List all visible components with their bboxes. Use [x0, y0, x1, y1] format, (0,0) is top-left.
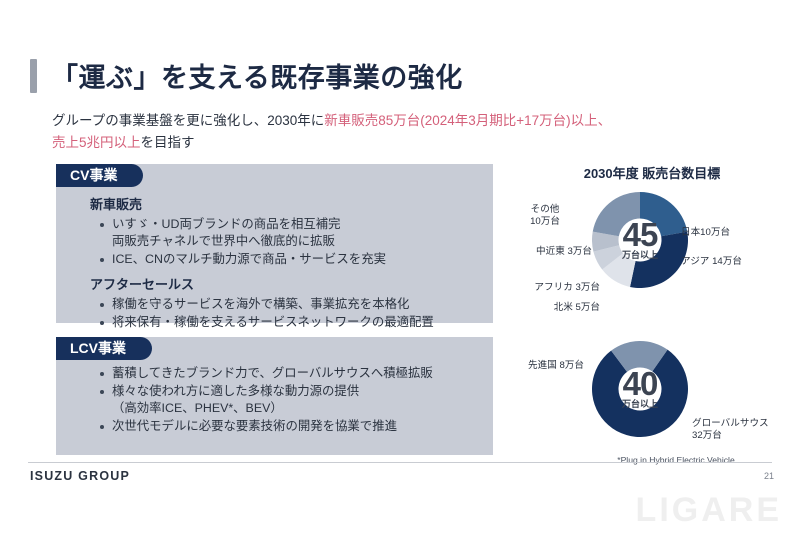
subtitle: グループの事業基盤を更に強化し、2030年に新車販売85万台(2024年3月期比… — [52, 110, 752, 154]
donut2-label-developed: 先進国 8万台 — [478, 360, 584, 372]
list-item: 次世代モデルに必要な要素技術の開発を協業で推進 — [112, 418, 485, 435]
cv-group-list-0: いすゞ・UD両ブランドの商品を相互補完 両販売チャネルで世界中へ徹底的に拡販 I… — [90, 216, 485, 268]
page-title: 「運ぶ」を支える既存事業の強化 — [30, 56, 463, 95]
donut2-label-global-south-line2: 32万台 — [692, 430, 722, 441]
donut1-label-asia: アジア 14万台 — [681, 256, 742, 268]
brand-logo-text: ISUZU GROUP — [30, 469, 130, 483]
lcv-business-content: 蓄積してきたブランド力で、グローバルサウスへ積極拡販 様々な使われ方に適した多様… — [90, 365, 485, 441]
bullet-text: 蓄積してきたブランド力で、グローバルサウスへ積極拡販 — [112, 366, 433, 380]
donut1-label-africa: アフリカ 3万台 — [478, 282, 600, 294]
title-accent-bar — [30, 59, 37, 93]
subtitle-line1-highlight: 新車販売85万台(2024年3月期比+17万台)以上、 — [324, 113, 611, 128]
list-item: 蓄積してきたブランド力で、グローバルサウスへ積極拡販 — [112, 365, 485, 382]
donut-chart-2-svg — [592, 341, 688, 437]
page-number: 21 — [764, 471, 774, 481]
cv-business-panel: CV事業 新車販売 いすゞ・UD両ブランドの商品を相互補完 両販売チャネルで世界… — [56, 164, 493, 323]
donut1-label-north-america: 北米 5万台 — [490, 302, 600, 314]
donut-segment-その他 — [593, 192, 640, 236]
list-item: 将来保有・稼働を支えるサービスネットワークの最適配置 — [112, 314, 485, 331]
charts-footnote: *Plug in Hybrid Electric Vehicle — [560, 455, 792, 465]
cv-group-heading-0: 新車販売 — [90, 194, 485, 213]
bullet-text: 稼働を守るサービスを海外で構築、事業拡充を本格化 — [112, 297, 409, 311]
bullet-text: ICE、CNのマルチ動力源で商品・サービスを充実 — [112, 252, 386, 266]
list-item: 様々な使われ方に適した多様な動力源の提供 （高効率ICE、PHEV*、BEV） — [112, 383, 485, 417]
donut1-label-middle-east: 中近東 3万台 — [478, 246, 592, 258]
bullet-text: いすゞ・UD両ブランドの商品を相互補完 — [112, 217, 341, 231]
title-text: 「運ぶ」を支える既存事業の強化 — [51, 56, 463, 95]
subtitle-line2-highlight: 売上5兆円以上 — [52, 135, 141, 150]
bullet-text: 将来保有・稼働を支えるサービスネットワークの最適配置 — [112, 315, 434, 329]
bullet-continuation: 両販売チャネルで世界中へ徹底的に拡販 — [112, 233, 485, 250]
cv-group-list-1: 稼働を守るサービスを海外で構築、事業拡充を本格化 将来保有・稼働を支えるサービス… — [90, 296, 485, 331]
list-item: 稼働を守るサービスを海外で構築、事業拡充を本格化 — [112, 296, 485, 313]
donut1-label-other-line1: その他 — [531, 204, 560, 215]
lcv-business-panel: LCV事業 蓄積してきたブランド力で、グローバルサウスへ積極拡販 様々な使われ方… — [56, 337, 493, 455]
subtitle-line1-plain: グループの事業基盤を更に強化し、2030年に — [52, 113, 324, 128]
cv-business-content: 新車販売 いすゞ・UD両ブランドの商品を相互補完 両販売チャネルで世界中へ徹底的… — [90, 192, 485, 337]
bullet-continuation: （高効率ICE、PHEV*、BEV） — [112, 400, 485, 417]
donut-chart-2030-sales-target: 45 万台以上 — [592, 192, 688, 288]
list-item: いすゞ・UD両ブランドの商品を相互補完 両販売チャネルで世界中へ徹底的に拡販 — [112, 216, 485, 250]
donut1-label-other-line2: 10万台 — [530, 216, 560, 227]
footer-divider — [28, 462, 772, 463]
list-item: ICE、CNのマルチ動力源で商品・サービスを充実 — [112, 251, 485, 268]
donut-segment-アジア — [630, 232, 688, 288]
bullet-text: 次世代モデルに必要な要素技術の開発を協業で推進 — [112, 419, 397, 433]
subtitle-line2-plain: を目指す — [141, 135, 195, 150]
bullet-text: 様々な使われ方に適した多様な動力源の提供 — [112, 384, 359, 398]
donut1-label-other: その他 10万台 — [514, 204, 576, 228]
charts-title: 2030年度 販売台数目標 — [512, 163, 792, 182]
slide-canvas: 「運ぶ」を支える既存事業の強化 グループの事業基盤を更に強化し、2030年に新車… — [0, 0, 800, 534]
cv-group-heading-1: アフターセールス — [90, 274, 485, 293]
donut2-label-global-south: グローバルサウス 32万台 — [692, 418, 769, 442]
donut-chart-lcv-regions: 40 万台以上 — [592, 341, 688, 437]
donut2-label-global-south-line1: グローバルサウス — [692, 418, 769, 429]
donut-chart-1-svg — [592, 192, 688, 288]
watermark: LIGARE — [636, 491, 782, 530]
cv-business-badge: CV事業 — [56, 164, 143, 187]
lcv-group-list-0: 蓄積してきたブランド力で、グローバルサウスへ積極拡販 様々な使われ方に適した多様… — [90, 365, 485, 435]
lcv-business-badge: LCV事業 — [56, 337, 152, 360]
donut1-label-japan: 日本10万台 — [681, 227, 730, 239]
